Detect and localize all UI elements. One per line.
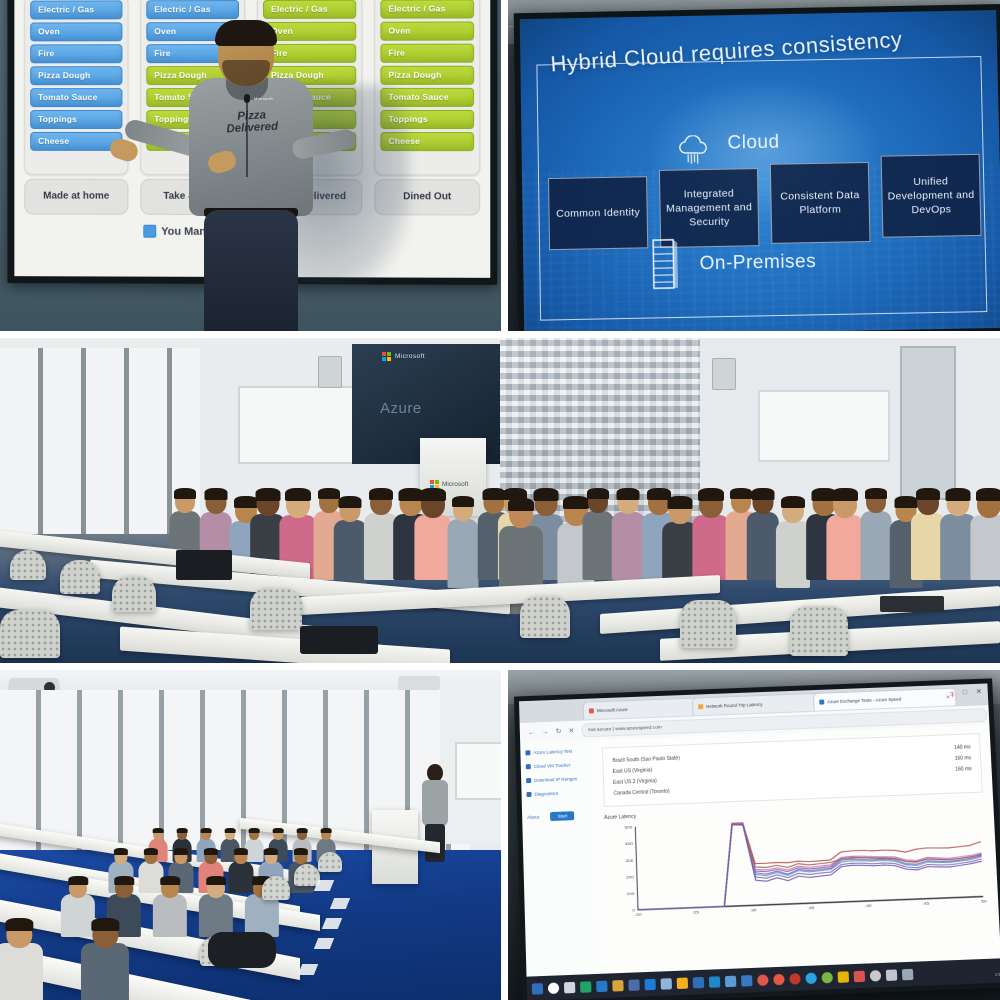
attendee-body	[414, 515, 451, 580]
attendee-hair	[255, 488, 280, 501]
attendee-hair	[153, 828, 164, 833]
classroom-scene	[0, 670, 501, 1000]
azure-latency-chart: 0100200300400500:20:25:30:35:40:45:50	[604, 809, 988, 924]
projector-icon	[398, 676, 440, 690]
attendee-hair	[144, 848, 158, 855]
hybrid-projection-screen: Hybrid Cloud requires consistency Cloud …	[514, 4, 1000, 331]
attendee-hair	[452, 496, 474, 507]
panel-classroom-photo	[0, 670, 501, 1000]
speaker-legs	[204, 210, 298, 331]
speaker-shirt-text: Pizza Delivered	[209, 108, 294, 136]
chair	[790, 606, 848, 656]
attendee	[943, 488, 973, 580]
browser-window: Microsoft Azure Network Round Trip Laten…	[519, 683, 1000, 1000]
attendee-body	[153, 894, 187, 937]
attendee	[335, 496, 365, 588]
group-photo-scene: Microsoft Azure Microsoft	[0, 338, 1000, 663]
attendee-hair	[201, 828, 212, 833]
chair	[250, 588, 302, 630]
tab-label: Microsoft Azure	[597, 707, 628, 713]
x-tick-label: :40	[865, 903, 872, 908]
attendee	[583, 488, 613, 580]
x-tick-label: :35	[807, 905, 814, 910]
pizza-item: Toppings	[30, 110, 122, 129]
attendee-hair	[946, 488, 971, 501]
y-tick-label: 300	[625, 858, 634, 863]
panel-group-photo: Microsoft Azure Microsoft	[0, 338, 1000, 663]
classroom-attendee	[152, 876, 188, 937]
taskbar-app-icon[interactable]	[789, 973, 801, 985]
microsoft-squares-icon	[382, 352, 391, 361]
cloud-icon	[673, 135, 714, 166]
stop-icon[interactable]: ✕	[568, 727, 574, 735]
attendee	[913, 488, 943, 580]
attendee-body	[199, 894, 233, 937]
x-tick-label: :25	[692, 910, 699, 915]
attendee	[974, 488, 1000, 580]
pizza-item: Fire	[30, 44, 122, 63]
pizza-item: Pizza Dough	[380, 66, 474, 85]
attendee	[696, 488, 726, 580]
attendee-hair	[297, 828, 308, 833]
server-rack-icon	[651, 238, 680, 291]
taskbar-app-icon[interactable]	[854, 970, 866, 982]
attendee-body	[692, 515, 729, 580]
panel-hybrid-cloud-slide: Hybrid Cloud requires consistency Cloud …	[508, 0, 1000, 331]
pizza-column-label: Made at home	[24, 179, 128, 215]
taskbar-app-icon[interactable]	[628, 979, 639, 991]
taskbar-app-icon[interactable]	[612, 979, 623, 991]
attendee-hair	[234, 848, 248, 855]
attendee-hair	[206, 876, 225, 885]
region-label: Canada Central (Toronto)	[613, 788, 669, 796]
microsoft-wordmark: Microsoft	[395, 353, 425, 360]
y-tick-label: 100	[627, 891, 636, 896]
attendee-hair	[916, 488, 940, 500]
ceiling-speaker-icon	[712, 358, 736, 390]
attendee-hair	[204, 488, 227, 500]
taskbar-app-icon[interactable]	[870, 970, 882, 982]
attendee-hair	[264, 848, 278, 855]
taskbar-app-icon[interactable]	[532, 983, 543, 995]
microphone-wire	[246, 102, 248, 177]
tab-favicon-icon	[819, 700, 824, 705]
projection-screen: Microsoft Azure Network Round Trip Laten…	[514, 678, 1000, 1000]
pillar-common-identity: Common Identity	[548, 176, 648, 250]
legend-swatch-icon	[143, 225, 156, 238]
chair	[680, 600, 736, 648]
back-icon[interactable]: ←	[528, 729, 535, 736]
x-tick-label: :45	[922, 901, 929, 906]
attendee	[448, 496, 478, 588]
backpack	[208, 932, 276, 968]
attendee-hair	[865, 488, 887, 499]
attendee-hair	[339, 496, 362, 508]
taskbar-app-icon[interactable]	[564, 981, 575, 993]
hybrid-slide-surface: Hybrid Cloud requires consistency Cloud …	[520, 10, 1000, 331]
region-label: East US 2 (Virginia)	[613, 778, 657, 786]
taskbar-app-icon[interactable]	[741, 975, 752, 987]
pizza-item: Electric / Gas	[380, 0, 474, 19]
taskbar-app-icon[interactable]	[693, 976, 704, 988]
attendee-hair	[68, 876, 87, 885]
attendee-hair	[6, 918, 33, 931]
attendee-hair	[321, 828, 332, 833]
pillar-integrated-management-and-security: Integrated Management and Security	[659, 168, 759, 248]
azure-slide-text: Azure	[380, 400, 422, 417]
address-bar-text: Not secure | www.azurespeed.com	[588, 725, 662, 733]
taskbar-app-icon[interactable]	[580, 981, 591, 993]
cloud-label: Cloud	[727, 132, 780, 155]
chair	[112, 576, 156, 612]
whiteboard-right	[758, 390, 890, 462]
pizza-item: Fire	[380, 44, 474, 63]
attendee-hair	[174, 488, 196, 499]
sidebar-item-diagnostics[interactable]: Diagnostics	[526, 789, 598, 797]
sidebar-item-label: Diagnostics	[534, 791, 558, 797]
taskbar-app-icon[interactable]	[644, 978, 655, 990]
pizza-item: Pizza Dough	[30, 66, 122, 85]
hybrid-pillars: Common Identity Integrated Management an…	[548, 160, 982, 240]
pizza-item: Oven	[30, 22, 122, 41]
attendee-body	[970, 515, 1000, 580]
classroom-attendee	[198, 876, 234, 937]
attendee-hair	[160, 876, 179, 885]
taskbar-app-icon[interactable]	[886, 969, 898, 981]
bullet-icon	[525, 750, 530, 755]
latency-line-chart-svg: 0100200300400500:20:25:30:35:40:45:50	[604, 809, 988, 924]
attendee-hair	[508, 498, 534, 511]
y-tick-label: 200	[626, 875, 635, 880]
attendee-hair	[832, 488, 858, 501]
classroom-attendee	[0, 918, 45, 1000]
on-premises-label: On-Premises	[699, 251, 816, 275]
attendee-body	[245, 894, 279, 937]
attendee-hair	[285, 488, 311, 501]
pizza-item: Electric / Gas	[263, 0, 356, 19]
attendee-body	[334, 520, 367, 588]
reload-icon[interactable]: ↻	[556, 727, 562, 735]
taskbar-app-icon[interactable]	[596, 980, 607, 992]
attendee-body	[746, 512, 779, 580]
taskbar-app-icon[interactable]	[821, 971, 833, 983]
sidebar-item-download-ip-ranges[interactable]: Download IP Ranges	[526, 775, 598, 783]
door	[900, 346, 956, 500]
laptop-bag	[300, 626, 378, 654]
taskbar-app-icon[interactable]	[902, 968, 914, 980]
region-label: Brazil South (Sao Paulo State)	[612, 755, 680, 764]
chair	[520, 596, 570, 638]
attendee-hair	[174, 848, 188, 855]
microsoft-logo-on-screen: Microsoft	[382, 352, 425, 361]
attendee-hair	[420, 488, 446, 501]
x-tick-label: :30	[750, 908, 757, 913]
window-controls: − □ ✕	[950, 688, 982, 697]
attendee-body	[448, 519, 479, 588]
speaker-shirt-badge: Microsoft	[254, 96, 273, 101]
attendee	[366, 488, 396, 580]
about-button[interactable]: About	[527, 812, 546, 822]
region-latency-value: 140 ms	[954, 744, 971, 751]
taskbar-app-icon[interactable]	[805, 972, 817, 984]
attendee	[861, 488, 891, 580]
region-latency-value: 160 ms	[955, 766, 972, 773]
pizza-item: Electric / Gas	[146, 0, 239, 19]
tab-favicon-icon	[698, 704, 703, 709]
attendee	[665, 496, 695, 588]
pizza-item: Oven	[380, 21, 474, 40]
bullet-icon	[526, 792, 531, 797]
ceiling-speaker-icon	[318, 356, 342, 388]
attendee	[418, 488, 448, 580]
x-tick-label: :20	[635, 912, 642, 917]
pillar-consistent-data-platform: Consistent Data Platform	[770, 162, 871, 244]
laptop	[880, 596, 944, 612]
attendee-hair	[114, 848, 128, 855]
attendee-body	[81, 943, 129, 1000]
attendee-hair	[294, 848, 308, 855]
panel-pizza-as-a-service: Electric / Gas Oven Fire Pizza Dough Tom…	[0, 0, 501, 331]
attendee-hair	[617, 488, 640, 500]
site-main-content: Brazil South (Sao Paulo State) 140 ms Ea…	[592, 725, 1000, 974]
sidebar-item-azure-latency-test[interactable]: Azure Latency Test	[525, 748, 597, 756]
attendee-hair	[751, 488, 774, 500]
speaker-figure: Microsoft Pizza Delivered	[186, 22, 316, 331]
attendee-hair	[587, 488, 609, 499]
photo-collage: Electric / Gas Oven Fire Pizza Dough Tom…	[0, 0, 1000, 1000]
taskbar-app-icon[interactable]	[773, 973, 784, 985]
pizza-item: Tomato Sauce	[30, 88, 122, 107]
bullet-icon	[526, 778, 531, 783]
y-tick-label: 400	[625, 841, 634, 846]
attendee-hair	[273, 828, 284, 833]
attendee-body	[826, 515, 863, 580]
attendee-hair	[249, 828, 260, 833]
sidebar-item-label: Cloud VM Tracker	[534, 763, 571, 769]
x-tick-label: :50	[980, 899, 987, 904]
start-button[interactable]: Start	[550, 811, 574, 821]
pizza-item: Cheese	[30, 132, 122, 151]
chair	[0, 610, 60, 658]
taskbar-app-icon[interactable]	[548, 982, 559, 994]
pillar-unified-development-and-devops: Unified Development and DevOps	[881, 154, 982, 238]
attendee-hair	[177, 828, 188, 833]
taskbar-app-icon[interactable]	[757, 974, 768, 986]
region-latency-value: 160 ms	[955, 755, 972, 762]
taskbar-app-icon[interactable]	[677, 977, 688, 989]
whiteboard	[455, 742, 501, 800]
chair	[318, 852, 342, 872]
y-tick-label: 500	[624, 825, 633, 830]
minimize-button[interactable]: −	[950, 689, 954, 696]
tab-favicon-icon	[589, 708, 594, 713]
attendee-hair	[92, 918, 119, 931]
y-axis	[635, 827, 638, 910]
chair	[10, 550, 46, 580]
taskbar-app-icon[interactable]	[838, 971, 850, 983]
chair	[60, 560, 100, 594]
maximize-button[interactable]: □	[963, 689, 968, 696]
taskbar-app-icon[interactable]	[709, 976, 720, 988]
attendee-hair	[114, 876, 133, 885]
tab-label: Network Round Trip Latency	[706, 702, 763, 709]
taskbar-app-icon[interactable]	[661, 978, 672, 990]
attendee-body	[582, 511, 613, 580]
classroom-attendee	[80, 918, 131, 1000]
sidebar-item-label: Download IP Ranges	[534, 776, 577, 783]
attendee-body	[860, 511, 891, 580]
chair	[262, 876, 290, 900]
attendee-hair	[225, 828, 236, 833]
close-window-button[interactable]: ✕	[976, 688, 982, 696]
attendee-hair	[668, 496, 693, 509]
latency-results-card: Brazil South (Sao Paulo State) 140 ms Ea…	[602, 733, 983, 807]
attendee-hair	[369, 488, 393, 500]
laptop	[176, 550, 232, 580]
sidebar-item-cloud-vm-tracker[interactable]: Cloud VM Tracker	[526, 762, 598, 770]
attendee-body	[0, 943, 43, 1000]
attendee-body	[612, 512, 645, 580]
taskbar-app-icon[interactable]	[725, 975, 736, 987]
attendee-hair	[781, 496, 805, 508]
attendee	[778, 496, 808, 588]
attendee	[748, 488, 778, 580]
attendee-hair	[698, 488, 724, 501]
attendee-hair	[976, 488, 1000, 501]
presenter-body	[422, 780, 448, 826]
sidebar-item-label: Azure Latency Test	[533, 749, 572, 755]
microsoft-wordmark: Microsoft	[442, 481, 468, 488]
region-label: East US (Virginia)	[613, 767, 653, 774]
speaker-hair	[215, 20, 277, 46]
forward-icon[interactable]: →	[542, 728, 549, 735]
taskbar-clock: 1:38	[995, 973, 1000, 978]
bullet-icon	[526, 764, 531, 769]
attendee-hair	[204, 848, 218, 855]
attendee	[613, 488, 643, 580]
tab-label: Azure Exchange Tests - Azure Speed	[827, 697, 901, 705]
pizza-item: Electric / Gas	[30, 0, 122, 19]
panel-azure-latency-dashboard: Microsoft Azure Network Round Trip Laten…	[508, 670, 1000, 1000]
attendee	[830, 488, 860, 580]
